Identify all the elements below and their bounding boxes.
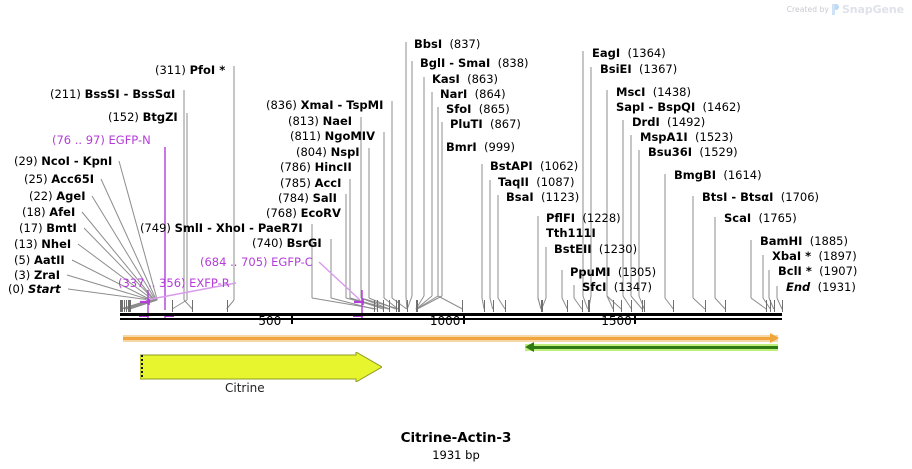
enzyme-position: (1087) bbox=[536, 175, 574, 189]
restriction-site-tick[interactable] bbox=[374, 300, 375, 312]
enzyme-name: SmlI - XhoI - PaeR7I bbox=[175, 221, 303, 235]
enzyme-position: (1706) bbox=[781, 190, 819, 204]
axis-tick-label: 1500 bbox=[601, 314, 632, 328]
enzyme-position: (837) bbox=[449, 37, 480, 51]
enzyme-name: HincII bbox=[315, 160, 352, 174]
enzyme-label[interactable]: BmgBI (1614) bbox=[674, 169, 762, 181]
enzyme-label[interactable]: End (1931) bbox=[786, 281, 856, 293]
enzyme-name: BglI - SmaI bbox=[420, 56, 490, 70]
enzyme-label[interactable]: BbsI (837) bbox=[414, 38, 480, 50]
restriction-site-tick[interactable] bbox=[567, 300, 568, 312]
enzyme-label[interactable]: BmrI (999) bbox=[446, 141, 515, 153]
enzyme-position: (1523) bbox=[695, 130, 733, 144]
enzyme-position: (5) bbox=[14, 253, 30, 267]
enzyme-position: (749) bbox=[140, 221, 171, 235]
restriction-site-tick[interactable] bbox=[782, 300, 783, 312]
enzyme-position: (1438) bbox=[653, 85, 691, 99]
enzyme-label[interactable]: (13) NheI bbox=[14, 238, 71, 250]
enzyme-name: KasI bbox=[432, 72, 460, 86]
restriction-site-tick[interactable] bbox=[542, 300, 543, 312]
enzyme-label[interactable]: NarI (864) bbox=[440, 88, 506, 100]
enzyme-label[interactable]: KasI (863) bbox=[432, 73, 498, 85]
enzyme-label[interactable]: BsaI (1123) bbox=[506, 191, 579, 203]
enzyme-position: (1907) bbox=[819, 264, 857, 278]
leader-line bbox=[715, 298, 725, 309]
enzyme-position: (22) bbox=[29, 189, 53, 203]
enzyme-label[interactable]: (152) BtgZI bbox=[108, 111, 178, 123]
enzyme-label[interactable]: TaqII (1087) bbox=[498, 176, 574, 188]
enzyme-label[interactable]: BamHI (1885) bbox=[760, 235, 848, 247]
enzyme-name: AatII bbox=[34, 253, 65, 267]
citrine-arrow-shape bbox=[140, 352, 382, 382]
enzyme-label[interactable]: (3) ZraI bbox=[14, 269, 60, 281]
enzyme-position: (1230) bbox=[599, 242, 637, 256]
enzyme-label[interactable]: (813) NaeI bbox=[288, 115, 352, 127]
enzyme-name: SfoI bbox=[446, 102, 471, 116]
enzyme-position: (152) bbox=[108, 110, 139, 124]
enzyme-name: NcoI - KpnI bbox=[41, 154, 112, 168]
primer-feature-label[interactable]: (337 .. 356) EXFP-R bbox=[118, 277, 230, 289]
enzyme-name: BtsI - BtsαI bbox=[702, 190, 773, 204]
enzyme-position: (311) bbox=[155, 63, 186, 77]
restriction-site-tick[interactable] bbox=[396, 300, 397, 312]
restriction-site-tick[interactable] bbox=[383, 300, 384, 312]
enzyme-label[interactable]: (211) BssSI - BssSαI bbox=[50, 88, 175, 100]
restriction-site-tick[interactable] bbox=[172, 300, 173, 312]
restriction-site-tick[interactable] bbox=[377, 300, 378, 312]
enzyme-label[interactable]: Tth111I bbox=[546, 227, 596, 239]
enzyme-name: BmtI bbox=[46, 221, 77, 235]
restriction-site-tick[interactable] bbox=[129, 300, 130, 312]
enzyme-name: AccI bbox=[315, 176, 342, 190]
enzyme-position: (811) bbox=[290, 129, 321, 143]
enzyme-name: DrdI bbox=[632, 115, 660, 129]
restriction-site-tick[interactable] bbox=[128, 300, 129, 312]
restriction-site-tick[interactable] bbox=[582, 300, 583, 312]
enzyme-name: PfoI bbox=[190, 63, 216, 77]
enzyme-position: (999) bbox=[484, 140, 515, 154]
restriction-site-tick[interactable] bbox=[417, 300, 418, 312]
enzyme-label[interactable]: (22) AgeI bbox=[29, 190, 85, 202]
enzyme-label[interactable]: Bsu36I (1529) bbox=[648, 146, 738, 158]
enzyme-name: BbsI bbox=[414, 37, 442, 51]
enzyme-name: Start bbox=[28, 282, 61, 296]
enzyme-position: (1931) bbox=[818, 280, 856, 294]
enzyme-label[interactable]: MscI (1438) bbox=[616, 86, 691, 98]
enzyme-label[interactable]: BstEII (1230) bbox=[554, 243, 637, 255]
enzyme-name: XmaI - TspMI bbox=[301, 98, 384, 112]
enzyme-label[interactable]: (784) SalI bbox=[278, 192, 337, 204]
restriction-site-tick[interactable] bbox=[589, 300, 590, 312]
enzyme-position: (13) bbox=[14, 237, 38, 251]
restriction-site-tick[interactable] bbox=[126, 300, 127, 312]
enzyme-position: (0) bbox=[8, 282, 24, 296]
restriction-site-tick[interactable] bbox=[192, 300, 193, 312]
enzyme-position: (838) bbox=[498, 56, 529, 70]
enzyme-label[interactable]: (0) Start bbox=[8, 283, 61, 295]
enzyme-position: (1897) bbox=[818, 249, 856, 263]
restriction-site-tick[interactable] bbox=[505, 300, 506, 312]
axis-tick-label: 1000 bbox=[430, 314, 461, 328]
enzyme-label[interactable]: (804) NspI bbox=[296, 146, 360, 158]
enzyme-name: End bbox=[786, 280, 810, 294]
restriction-site-tick[interactable] bbox=[124, 300, 125, 312]
enzyme-label[interactable]: SapI - BspQI (1462) bbox=[616, 101, 741, 113]
restriction-site-tick[interactable] bbox=[725, 300, 726, 312]
enzyme-position: (768) bbox=[266, 206, 297, 220]
enzyme-position: (1462) bbox=[703, 100, 741, 114]
enzyme-position: (784) bbox=[278, 191, 309, 205]
enzyme-name: BamHI bbox=[760, 234, 802, 248]
enzyme-position: (1228) bbox=[582, 211, 620, 225]
enzyme-label[interactable]: SfcI (1347) bbox=[582, 281, 652, 293]
enzyme-name: SapI - BspQI bbox=[616, 100, 695, 114]
restriction-site-tick[interactable] bbox=[493, 300, 494, 312]
enzyme-position: (786) bbox=[280, 160, 311, 174]
map-title: Citrine-Actin-3 bbox=[0, 430, 912, 446]
enzyme-label[interactable]: (811) NgoMIV bbox=[290, 130, 375, 142]
enzyme-name: ScaI bbox=[724, 211, 751, 225]
restriction-site-tick[interactable] bbox=[389, 300, 390, 312]
restriction-site-tick[interactable] bbox=[120, 300, 121, 312]
enzyme-name: BstAPI bbox=[490, 159, 533, 173]
enzyme-name: PflFI bbox=[546, 211, 575, 225]
enzyme-name: PpuMI bbox=[570, 265, 611, 279]
enzyme-name: NaeI bbox=[323, 114, 352, 128]
enzyme-label[interactable]: (17) BmtI bbox=[19, 222, 77, 234]
restriction-site-tick[interactable] bbox=[631, 300, 632, 312]
restriction-site-tick[interactable] bbox=[484, 300, 485, 312]
enzyme-position: (867) bbox=[490, 117, 521, 131]
enzyme-position: (1765) bbox=[758, 211, 796, 225]
leader-line bbox=[607, 296, 621, 309]
enzyme-position: (740) bbox=[252, 236, 283, 250]
enzyme-label[interactable]: PluTI (867) bbox=[450, 118, 521, 130]
enzyme-name: AfeI bbox=[49, 205, 75, 219]
axis-tick-mark bbox=[291, 314, 293, 324]
enzyme-label[interactable]: (785) AccI bbox=[280, 177, 341, 189]
reverse-feature-bar[interactable] bbox=[533, 346, 779, 349]
primer-label-text: (684 .. 705) EGFP-C bbox=[200, 255, 313, 269]
enzyme-position: (1062) bbox=[540, 159, 578, 173]
leader-line bbox=[693, 298, 705, 309]
enzyme-label[interactable]: (768) EcoRV bbox=[266, 207, 341, 219]
restriction-site-tick[interactable] bbox=[407, 300, 408, 312]
restriction-site-tick[interactable] bbox=[770, 300, 771, 312]
leader-line bbox=[438, 296, 462, 309]
enzyme-position: (25) bbox=[24, 172, 48, 186]
map-length-label: 1931 bp bbox=[0, 448, 912, 462]
snapgene-sequence-map: Created by SnapGene (311) PfoI *(211) Bs… bbox=[0, 0, 912, 469]
restriction-site-tick[interactable] bbox=[642, 300, 643, 312]
enzyme-name: XbaI bbox=[772, 249, 801, 263]
enzyme-label[interactable]: PpuMI (1305) bbox=[570, 266, 656, 278]
enzyme-name: AgeI bbox=[56, 189, 85, 203]
enzyme-label[interactable]: (5) AatII bbox=[14, 254, 65, 266]
restriction-site-tick[interactable] bbox=[621, 300, 622, 312]
enzyme-name: SalI bbox=[313, 191, 337, 205]
backbone-feature-bar[interactable] bbox=[123, 337, 772, 340]
enzyme-name: NspI bbox=[331, 145, 360, 159]
citrine-feature-label: Citrine bbox=[225, 381, 265, 395]
enzyme-label[interactable]: (311) PfoI * bbox=[155, 64, 225, 76]
leader-line bbox=[227, 300, 234, 309]
enzyme-label[interactable]: XbaI * (1897) bbox=[772, 250, 857, 262]
enzyme-label[interactable]: EagI (1364) bbox=[592, 47, 666, 59]
primer-label-text: (76 .. 97) EGFP-N bbox=[52, 133, 151, 147]
reverse-feature-arrowhead bbox=[525, 342, 534, 352]
leader-line bbox=[623, 296, 631, 309]
enzyme-label[interactable]: (18) AfeI bbox=[22, 206, 75, 218]
enzyme-name: NarI bbox=[440, 87, 467, 101]
primer-feature-label[interactable]: (76 .. 97) EGFP-N bbox=[52, 134, 151, 146]
enzyme-label[interactable]: BglI - SmaI (838) bbox=[420, 57, 529, 69]
enzyme-position: (1347) bbox=[614, 280, 652, 294]
primer-label-text: (337 .. 356) EXFP-R bbox=[118, 276, 230, 290]
leader-line bbox=[574, 298, 582, 309]
enzyme-label[interactable]: BstAPI (1062) bbox=[490, 160, 578, 172]
enzyme-name: BstEII bbox=[554, 242, 592, 256]
primer-feature-label[interactable]: (684 .. 705) EGFP-C bbox=[200, 256, 313, 268]
restriction-site-tick[interactable] bbox=[462, 300, 463, 312]
enzyme-position: (1885) bbox=[810, 234, 848, 248]
enzyme-name: Bsu36I bbox=[648, 145, 692, 159]
leader-line bbox=[172, 300, 187, 309]
enzyme-position: (785) bbox=[280, 176, 311, 190]
axis-tick-mark bbox=[634, 314, 636, 324]
enzyme-name: Acc65I bbox=[51, 172, 94, 186]
leader-line bbox=[319, 262, 360, 300]
enzyme-label[interactable]: (25) Acc65I bbox=[24, 173, 94, 185]
enzyme-position: (865) bbox=[479, 102, 510, 116]
enzyme-label[interactable]: MspA1I (1523) bbox=[640, 131, 733, 143]
restriction-site-tick[interactable] bbox=[644, 300, 645, 312]
enzyme-label[interactable]: BclI * (1907) bbox=[778, 265, 857, 277]
citrine-cds-arrow[interactable] bbox=[140, 352, 382, 382]
enzyme-position: (836) bbox=[266, 98, 297, 112]
enzyme-name: Tth111I bbox=[546, 226, 596, 240]
enzyme-star-marker: * bbox=[215, 63, 225, 77]
enzyme-name: BsrGI bbox=[287, 236, 322, 250]
enzyme-position: (3) bbox=[14, 268, 30, 282]
enzyme-name: BmrI bbox=[446, 140, 477, 154]
enzyme-name: BmgBI bbox=[674, 168, 716, 182]
enzyme-position: (1364) bbox=[627, 46, 665, 60]
enzyme-position: (211) bbox=[50, 87, 81, 101]
enzyme-name: MscI bbox=[616, 85, 645, 99]
enzyme-label[interactable]: BtsI - BtsαI (1706) bbox=[702, 191, 819, 203]
restriction-site-tick[interactable] bbox=[613, 300, 614, 312]
enzyme-position: (1123) bbox=[541, 190, 579, 204]
enzyme-label[interactable]: (29) NcoI - KpnI bbox=[14, 155, 112, 167]
restriction-site-tick[interactable] bbox=[227, 300, 228, 312]
enzyme-label[interactable]: (749) SmlI - XhoI - PaeR7I bbox=[140, 222, 303, 234]
axis-tick-mark bbox=[463, 314, 465, 324]
enzyme-name: EagI bbox=[592, 46, 620, 60]
enzyme-position: (863) bbox=[467, 72, 498, 86]
enzyme-position: (1367) bbox=[639, 62, 677, 76]
enzyme-label[interactable]: DrdI (1492) bbox=[632, 116, 705, 128]
enzyme-name: EcoRV bbox=[301, 206, 341, 220]
leader-line bbox=[498, 298, 505, 309]
enzyme-name: BsaI bbox=[506, 190, 534, 204]
backbone-feature-arrowhead bbox=[770, 333, 779, 343]
enzyme-position: (18) bbox=[22, 205, 46, 219]
axis-tick-label: 500 bbox=[258, 314, 281, 328]
restriction-site-tick[interactable] bbox=[398, 300, 399, 312]
restriction-site-tick[interactable] bbox=[705, 300, 706, 312]
enzyme-name: MspA1I bbox=[640, 130, 688, 144]
enzyme-position: (1614) bbox=[723, 168, 761, 182]
enzyme-name: BsiEI bbox=[600, 62, 632, 76]
enzyme-star-marker: * bbox=[802, 264, 812, 278]
enzyme-position: (1529) bbox=[699, 145, 737, 159]
enzyme-name: PluTI bbox=[450, 117, 483, 131]
enzyme-label[interactable]: PflFI (1228) bbox=[546, 212, 621, 224]
enzyme-position: (813) bbox=[288, 114, 319, 128]
enzyme-label[interactable]: (836) XmaI - TspMI bbox=[266, 99, 383, 111]
leader-line bbox=[631, 296, 642, 309]
restriction-site-tick[interactable] bbox=[774, 300, 775, 312]
enzyme-name: NgoMIV bbox=[325, 129, 375, 143]
leader-line bbox=[68, 289, 150, 300]
enzyme-position: (1305) bbox=[618, 265, 656, 279]
enzyme-name: BtgZI bbox=[143, 110, 178, 124]
enzyme-label[interactable]: ScaI (1765) bbox=[724, 212, 797, 224]
enzyme-position: (17) bbox=[19, 221, 43, 235]
enzyme-label[interactable]: BsiEI (1367) bbox=[600, 63, 677, 75]
enzyme-star-marker: * bbox=[801, 249, 811, 263]
enzyme-position: (1492) bbox=[667, 115, 705, 129]
enzyme-name: ZraI bbox=[34, 268, 60, 282]
leader-line bbox=[665, 298, 673, 309]
enzyme-label[interactable]: SfoI (865) bbox=[446, 103, 510, 115]
enzyme-position: (864) bbox=[475, 87, 506, 101]
enzyme-name: TaqII bbox=[498, 175, 529, 189]
enzyme-position: (29) bbox=[14, 154, 38, 168]
restriction-site-tick[interactable] bbox=[673, 300, 674, 312]
enzyme-label[interactable]: (740) BsrGI bbox=[252, 237, 322, 249]
restriction-site-tick[interactable] bbox=[121, 300, 122, 312]
restriction-site-tick[interactable] bbox=[130, 300, 131, 312]
enzyme-name: SfcI bbox=[582, 280, 606, 294]
enzyme-name: BclI bbox=[778, 264, 802, 278]
enzyme-name: NheI bbox=[41, 237, 71, 251]
restriction-site-tick[interactable] bbox=[766, 300, 767, 312]
enzyme-name: BssSI - BssSαI bbox=[85, 87, 176, 101]
enzyme-position: (804) bbox=[296, 145, 327, 159]
enzyme-label[interactable]: (786) HincII bbox=[280, 161, 352, 173]
